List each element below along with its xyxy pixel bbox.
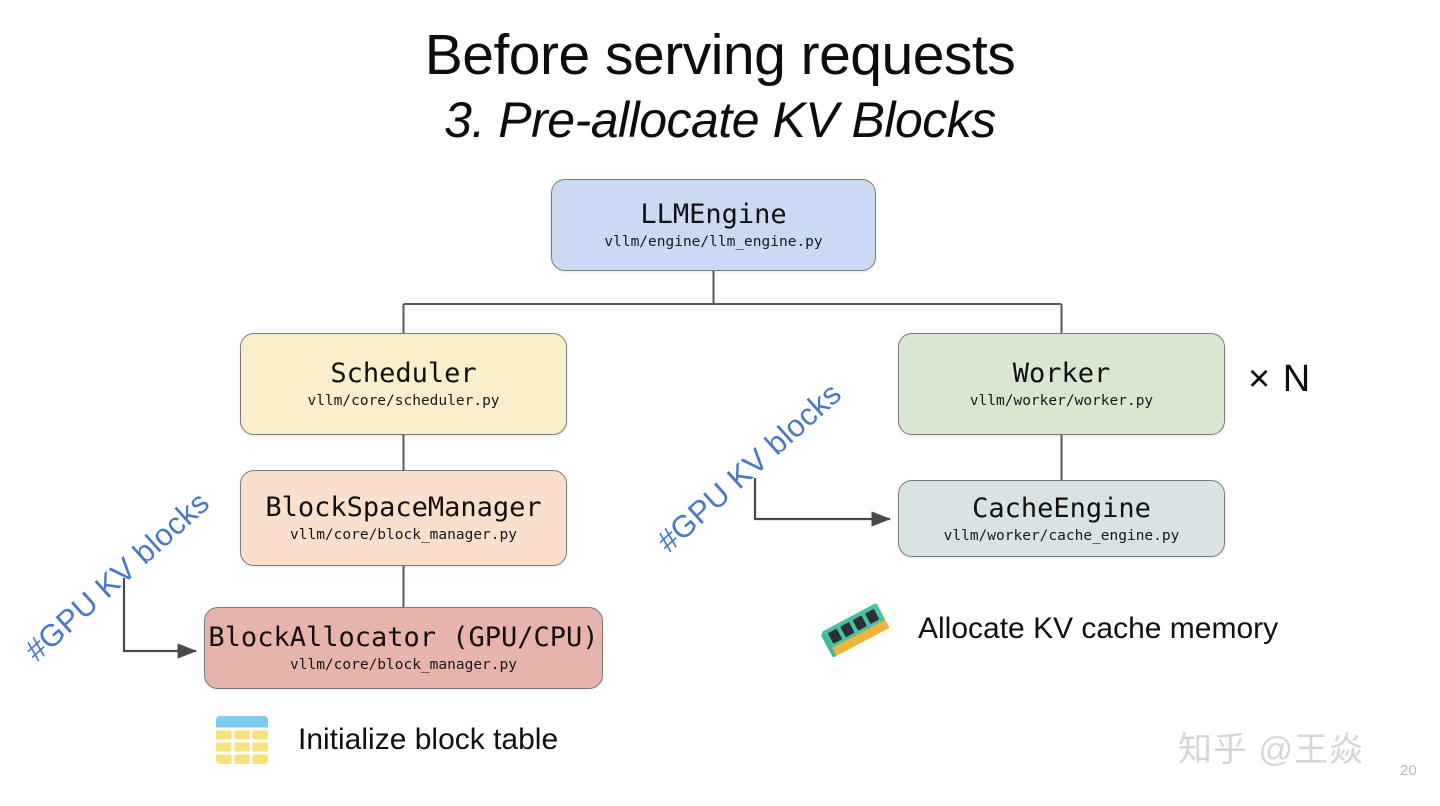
node-blockallocator[interactable]: BlockAllocator (GPU/CPU) vllm/core/block… xyxy=(204,607,603,689)
worker-multiplier-label: × N xyxy=(1248,358,1311,401)
annotation-gpu-kv-blocks-left: #GPU KV blocks xyxy=(18,485,217,669)
legend-label-initialize-table: Initialize block table xyxy=(298,723,558,757)
slide-title: Before serving requests xyxy=(0,24,1440,87)
memory-stick-icon xyxy=(818,598,892,660)
node-scheduler[interactable]: Scheduler vllm/core/scheduler.py xyxy=(240,333,567,435)
node-llmengine-title: LLMEngine xyxy=(640,199,786,230)
slide-canvas: Before serving requests 3. Pre-allocate … xyxy=(0,0,1440,806)
node-blockallocator-title: BlockAllocator (GPU/CPU) xyxy=(208,622,598,653)
node-blockspacemanager[interactable]: BlockSpaceManager vllm/core/block_manage… xyxy=(240,470,567,566)
slide-subtitle: 3. Pre-allocate KV Blocks xyxy=(0,92,1440,150)
node-worker-path: vllm/worker/worker.py xyxy=(970,393,1153,410)
node-cacheengine[interactable]: CacheEngine vllm/worker/cache_engine.py xyxy=(898,480,1225,557)
node-scheduler-title: Scheduler xyxy=(330,358,476,389)
node-cacheengine-title: CacheEngine xyxy=(972,493,1151,524)
watermark: 知乎 @王焱 xyxy=(1178,722,1364,771)
legend-item-allocate-memory: Allocate KV cache memory xyxy=(818,598,1278,660)
legend-label-allocate-memory: Allocate KV cache memory xyxy=(918,612,1278,646)
node-worker[interactable]: Worker vllm/worker/worker.py xyxy=(898,333,1225,435)
node-blockspacemanager-title: BlockSpaceManager xyxy=(265,492,541,523)
node-blockspacemanager-path: vllm/core/block_manager.py xyxy=(290,527,517,544)
annotation-gpu-kv-blocks-right: #GPU KV blocks xyxy=(650,376,849,560)
legend-item-initialize-table: Initialize block table xyxy=(212,710,558,770)
node-llmengine[interactable]: LLMEngine vllm/engine/llm_engine.py xyxy=(551,179,876,271)
spreadsheet-table-icon xyxy=(212,710,272,770)
node-llmengine-path: vllm/engine/llm_engine.py xyxy=(604,234,822,251)
node-cacheengine-path: vllm/worker/cache_engine.py xyxy=(944,528,1180,545)
page-number: 20 xyxy=(1400,762,1417,779)
node-worker-title: Worker xyxy=(1013,358,1111,389)
node-blockallocator-path: vllm/core/block_manager.py xyxy=(290,657,517,674)
node-scheduler-path: vllm/core/scheduler.py xyxy=(307,393,499,410)
